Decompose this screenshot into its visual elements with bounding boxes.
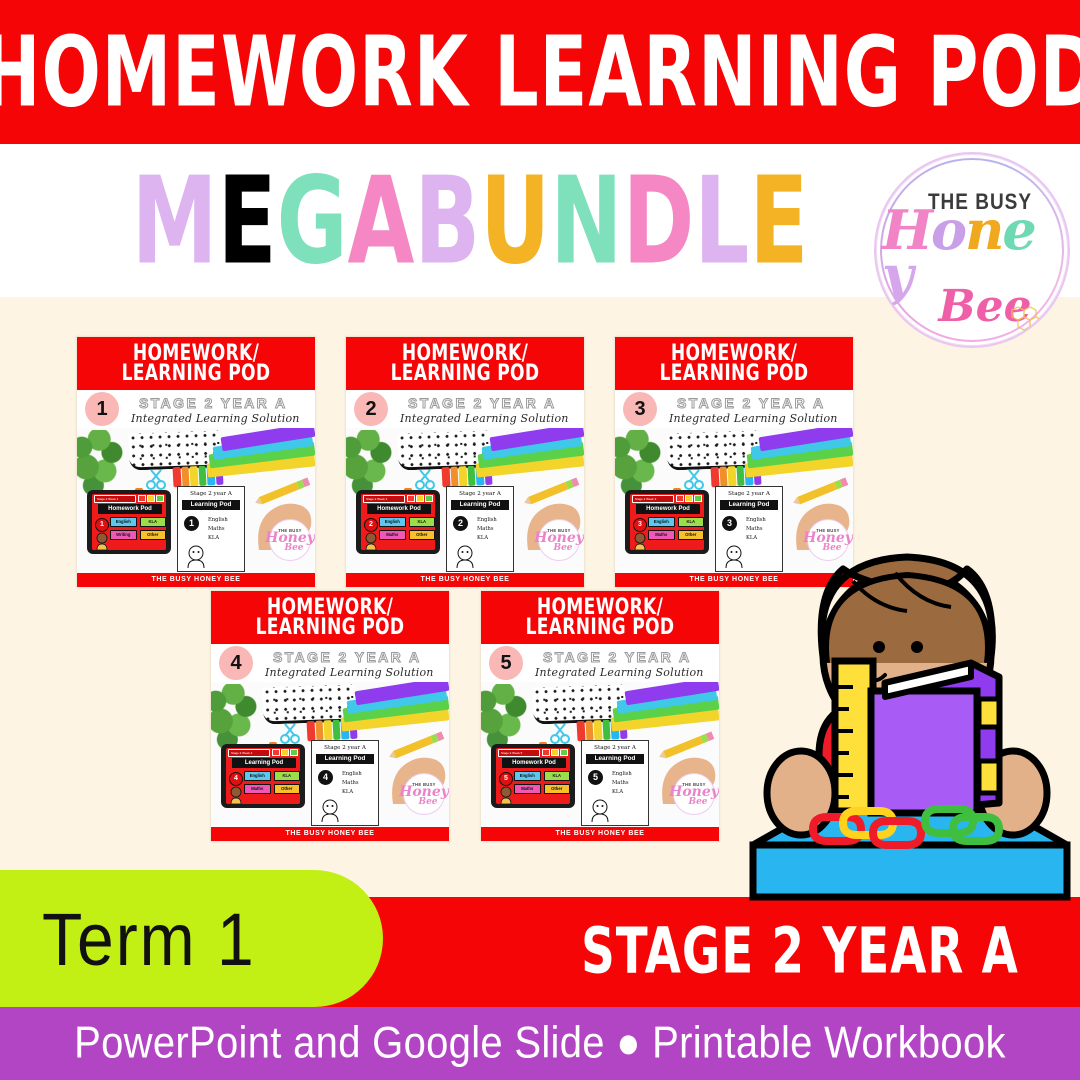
tablet-subject-button[interactable]: English [514, 771, 541, 781]
tablet-subject-button[interactable]: KLA [140, 517, 167, 527]
mega-letter: M [132, 161, 218, 281]
thumbnail-logo: THE BUSYHoneyBee [269, 519, 311, 561]
tablet-screen: Stage 2 Week 4Learning Pod4EnglishKLAMat… [226, 748, 300, 804]
mega-letter: E [218, 161, 277, 281]
tablet-subject-button[interactable]: Other [544, 784, 571, 794]
tablet-number-badge: 5 [499, 772, 513, 786]
worksheet-subject-item: English [208, 516, 228, 525]
worksheet-subject-item: KLA [208, 534, 228, 543]
worksheet-preview: Stage 2 year ALearning Pod2EnglishMathsK… [446, 486, 514, 572]
thumbnail-title-line2: LEARNING POD [256, 616, 405, 639]
product-thumbnail[interactable]: HOMEWORK/LEARNING PODSTAGE 2 YEAR AInteg… [76, 336, 316, 588]
thumbnail-header: HOMEWORK/LEARNING POD [77, 337, 315, 390]
mega-bundle-title: MEGABUNDLE [150, 162, 790, 280]
tablet-subject-button[interactable]: English [379, 517, 406, 527]
tablet-button-row: MathsOther [514, 784, 570, 794]
tablet-mockup: Stage 2 Week 4Learning Pod4EnglishKLAMat… [221, 744, 305, 808]
logo-top-text: THE BUSY [928, 190, 1032, 215]
tablet-number-badge: 4 [229, 772, 243, 786]
tablet-subject-button[interactable]: Other [409, 530, 436, 540]
term-label: Term 1 [42, 896, 256, 981]
logo-letter: y [882, 253, 911, 299]
formats-label: PowerPoint and Google Slide ● Printable … [74, 1018, 1006, 1068]
tablet-button-grid: EnglishKLAMathsOther [379, 517, 435, 543]
tablet-tab-label: Stage 2 Week 1 [95, 496, 135, 502]
thumbnail-solution-label: Integrated Learning Solution [669, 412, 838, 425]
tablet-number-badge: 1 [95, 518, 109, 532]
tablet-button-row: WritingOther [110, 530, 166, 540]
thumbnail-solution-label: Integrated Learning Solution [131, 412, 300, 425]
worksheet-subject-item: KLA [477, 534, 497, 543]
tablet-button-row: EnglishKLA [244, 771, 300, 781]
product-cover: HOMEWORK LEARNING POD MEGABUNDLE THE BUS… [0, 0, 1080, 1080]
thumbnail-photo: Stage 2 Week 1Homework Pod1EnglishKLAWri… [77, 428, 315, 573]
thumbnail-number-badge: 1 [85, 392, 119, 426]
thumbnail-logo: THE BUSYHoneyBee [673, 773, 715, 815]
worksheet-subject-list: EnglishMathsKLA [746, 516, 766, 543]
tablet-button-row: EnglishKLA [110, 517, 166, 527]
formats-banner: PowerPoint and Google Slide ● Printable … [0, 1007, 1080, 1080]
tablet-button-grid: EnglishKLAWritingOther [110, 517, 166, 543]
tablet-screen: Stage 2 Week 5Homework Pod5EnglishKLAMat… [496, 748, 570, 804]
scissors-icon [279, 722, 303, 744]
term-tab: Term 1 [0, 870, 383, 1007]
tablet-subject-button[interactable]: KLA [544, 771, 571, 781]
thumbnail-logo: THE BUSYHoneyBee [538, 519, 580, 561]
avatar [498, 786, 514, 804]
thumbnail-number-badge: 5 [489, 646, 523, 680]
tablet-screen: Stage 2 Week 1Homework Pod1EnglishKLAWri… [92, 494, 166, 550]
mega-letter: A [348, 161, 415, 281]
plant-icon [211, 684, 261, 750]
tablet-number-badge: 3 [633, 518, 647, 532]
worksheet-stage-label: Stage 2 year A [447, 491, 513, 497]
tablet-button-row: MathsOther [244, 784, 300, 794]
tablet-title: Homework Pod [502, 758, 566, 768]
thumbnail-footer: THE BUSY HONEY BEE [211, 827, 449, 841]
worksheet-title: Learning Pod [720, 500, 778, 510]
notebooks-icon [476, 428, 584, 486]
mega-letter: N [550, 161, 622, 281]
student-doodle-icon [453, 544, 477, 568]
thumbnail-logo-bee: Bee [418, 799, 437, 806]
tablet-button-grid: EnglishKLAMathsOther [244, 771, 300, 797]
worksheet-title: Learning Pod [182, 500, 240, 510]
worksheet-subject-item: Maths [342, 779, 362, 788]
worksheet-subject-item: English [342, 770, 362, 779]
thumbnail-stage-label: STAGE 2 YEAR A [139, 395, 287, 411]
notebooks-icon [207, 428, 315, 486]
tablet-tab: Stage 2 Week 2 [363, 495, 405, 503]
mega-letter: G [277, 161, 348, 281]
scissors-icon [683, 468, 707, 490]
tablet-screen: Stage 2 Week 2Homework Pod2EnglishKLAMat… [361, 494, 435, 550]
thumbnail-footer: THE BUSY HONEY BEE [481, 827, 719, 841]
worksheet-stage-label: Stage 2 year A [582, 745, 648, 751]
tablet-indicator-dots [407, 495, 433, 502]
tablet-tab: Stage 2 Week 3 [632, 495, 674, 503]
thumbnail-number-badge: 2 [354, 392, 388, 426]
tablet-mockup: Stage 2 Week 1Homework Pod1EnglishKLAWri… [87, 490, 171, 554]
avatar [94, 532, 110, 550]
worksheet-title: Learning Pod [586, 754, 644, 764]
worksheet-number-badge: 4 [318, 770, 333, 785]
tablet-subject-button[interactable]: Writing [110, 530, 137, 540]
tablet-tab-label: Stage 2 Week 4 [229, 750, 269, 756]
tablet-subject-button[interactable]: English [110, 517, 137, 527]
worksheet-number-badge: 1 [184, 516, 199, 531]
tablet-tab-label: Stage 2 Week 3 [633, 496, 673, 502]
thumbnail-photo: Stage 2 Week 2Homework Pod2EnglishKLAMat… [346, 428, 584, 573]
tablet-tab: Stage 2 Week 5 [498, 749, 540, 757]
thumbnail-footer: THE BUSY HONEY BEE [77, 573, 315, 587]
header-banner: HOMEWORK LEARNING POD [0, 0, 1080, 144]
scissors-icon [549, 722, 573, 744]
tablet-button-grid: EnglishKLAMathsOther [514, 771, 570, 797]
product-thumbnail[interactable]: HOMEWORK/LEARNING PODSTAGE 2 YEAR AInteg… [345, 336, 585, 588]
brand-logo: THE BUSY Honey Bee [874, 152, 1070, 348]
notebooks-icon [341, 682, 449, 740]
student-illustration [735, 545, 1080, 935]
thumbnail-header: HOMEWORK/LEARNING POD [615, 337, 853, 390]
tablet-subject-button[interactable]: English [244, 771, 271, 781]
mega-letter: B [414, 161, 480, 281]
student-doodle-icon [184, 544, 208, 568]
mega-letter: D [623, 161, 695, 281]
worksheet-number-badge: 5 [588, 770, 603, 785]
tablet-tab-label: Stage 2 Week 5 [499, 750, 539, 756]
worksheet-stage-label: Stage 2 year A [178, 491, 244, 497]
worksheet-title: Learning Pod [451, 500, 509, 510]
tablet-mockup: Stage 2 Week 2Homework Pod2EnglishKLAMat… [356, 490, 440, 554]
worksheet-stage-label: Stage 2 year A [312, 745, 378, 751]
thumbnail-header: HOMEWORK/LEARNING POD [211, 591, 449, 644]
mega-letter: L [694, 161, 749, 281]
scissors-icon [414, 468, 438, 490]
tablet-subject-button[interactable]: Other [274, 784, 301, 794]
tablet-title: Homework Pod [98, 504, 162, 514]
worksheet-subject-item: Maths [746, 525, 766, 534]
page-title: HOMEWORK LEARNING POD [0, 23, 1080, 120]
plant-icon [615, 430, 665, 496]
product-thumbnail[interactable]: HOMEWORK/LEARNING PODSTAGE 2 YEAR AInteg… [480, 590, 720, 842]
worksheet-subject-item: KLA [612, 788, 632, 797]
worksheet-subject-list: EnglishMathsKLA [612, 770, 632, 797]
tablet-indicator-dots [542, 749, 568, 756]
mega-letter: E [749, 161, 808, 281]
worksheet-subject-item: Maths [612, 779, 632, 788]
worksheet-preview: Stage 2 year ALearning Pod5EnglishMathsK… [581, 740, 649, 826]
plant-icon [346, 430, 396, 496]
tablet-indicator-dots [676, 495, 702, 502]
worksheet-subject-item: English [612, 770, 632, 779]
tablet-title: Learning Pod [232, 758, 296, 768]
product-thumbnail[interactable]: HOMEWORK/LEARNING PODSTAGE 2 YEAR AInteg… [210, 590, 450, 842]
worksheet-number-badge: 2 [453, 516, 468, 531]
tablet-tab: Stage 2 Week 4 [228, 749, 270, 757]
tablet-tab-label: Stage 2 Week 2 [364, 496, 404, 502]
student-doodle-icon [588, 798, 612, 822]
notebooks-icon [745, 428, 853, 486]
tablet-mockup: Stage 2 Week 3Homework Pod3EnglishKLAMat… [625, 490, 709, 554]
thumbnail-stage-label: STAGE 2 YEAR A [677, 395, 825, 411]
thumbnail-photo: Stage 2 Week 4Learning Pod4EnglishKLAMat… [211, 682, 449, 827]
thumbnail-number-badge: 3 [623, 392, 657, 426]
tablet-subject-button[interactable]: KLA [274, 771, 301, 781]
tablet-subject-button[interactable]: Maths [648, 530, 675, 540]
thumbnail-stage-label: STAGE 2 YEAR A [543, 649, 691, 665]
worksheet-subject-item: KLA [342, 788, 362, 797]
worksheet-subject-item: English [746, 516, 766, 525]
thumbnail-solution-label: Integrated Learning Solution [535, 666, 704, 679]
worksheet-subject-list: EnglishMathsKLA [477, 516, 497, 543]
tablet-button-row: EnglishKLA [648, 517, 704, 527]
tablet-mockup: Stage 2 Week 5Homework Pod5EnglishKLAMat… [491, 744, 575, 808]
tablet-number-badge: 2 [364, 518, 378, 532]
plant-icon [481, 684, 531, 750]
worksheet-subject-item: Maths [477, 525, 497, 534]
thumbnail-title-line2: LEARNING POD [122, 362, 271, 385]
thumbnail-title-line2: LEARNING POD [391, 362, 540, 385]
thumbnail-stage-label: STAGE 2 YEAR A [273, 649, 421, 665]
thumbnail-stage-label: STAGE 2 YEAR A [408, 395, 556, 411]
worksheet-number-badge: 3 [722, 516, 737, 531]
worksheet-subject-item: English [477, 516, 497, 525]
thumbnail-number-badge: 4 [219, 646, 253, 680]
tablet-subject-button[interactable]: KLA [678, 517, 705, 527]
tablet-subject-button[interactable]: English [648, 517, 675, 527]
worksheet-preview: Stage 2 year ALearning Pod1EnglishMathsK… [177, 486, 245, 572]
tablet-screen: Stage 2 Week 3Homework Pod3EnglishKLAMat… [630, 494, 704, 550]
tablet-button-row: MathsOther [379, 530, 435, 540]
tablet-indicator-dots [272, 749, 298, 756]
worksheet-stage-label: Stage 2 year A [716, 491, 782, 497]
tablet-button-row: EnglishKLA [379, 517, 435, 527]
tablet-subject-button[interactable]: KLA [409, 517, 436, 527]
thumbnail-logo-bee: Bee [284, 545, 303, 552]
tablet-title: Homework Pod [636, 504, 700, 514]
tablet-subject-button[interactable]: Other [678, 530, 705, 540]
avatar [363, 532, 379, 550]
tablet-subject-button[interactable]: Maths [514, 784, 541, 794]
tablet-subject-button[interactable]: Other [140, 530, 167, 540]
worksheet-subject-item: Maths [208, 525, 228, 534]
thumbnail-logo: THE BUSYHoneyBee [403, 773, 445, 815]
mega-letter: U [480, 161, 550, 281]
thumbnail-solution-label: Integrated Learning Solution [400, 412, 569, 425]
thumbnail-header: HOMEWORK/LEARNING POD [346, 337, 584, 390]
tablet-button-grid: EnglishKLAMathsOther [648, 517, 704, 543]
plant-icon [77, 430, 127, 496]
tablet-subject-button[interactable]: Maths [379, 530, 406, 540]
student-doodle-icon [318, 798, 342, 822]
tablet-title: Homework Pod [367, 504, 431, 514]
notebooks-icon [611, 682, 719, 740]
avatar [228, 786, 244, 804]
thumbnail-logo-bee: Bee [688, 799, 707, 806]
tablet-subject-button[interactable]: Maths [244, 784, 271, 794]
tablet-indicator-dots [138, 495, 164, 502]
worksheet-title: Learning Pod [316, 754, 374, 764]
thumbnail-photo: Stage 2 Week 5Homework Pod5EnglishKLAMat… [481, 682, 719, 827]
tablet-button-row: MathsOther [648, 530, 704, 540]
worksheet-preview: Stage 2 year ALearning Pod4EnglishMathsK… [311, 740, 379, 826]
thumbnail-header: HOMEWORK/LEARNING POD [481, 591, 719, 644]
thumbnail-footer: THE BUSY HONEY BEE [346, 573, 584, 587]
avatar [632, 532, 648, 550]
thumbnail-solution-label: Integrated Learning Solution [265, 666, 434, 679]
honeycomb-icon [1004, 306, 1050, 336]
thumbnail-logo-bee: Bee [553, 545, 572, 552]
thumbnail-title-line2: LEARNING POD [526, 616, 675, 639]
worksheet-subject-list: EnglishMathsKLA [342, 770, 362, 797]
thumbnail-title-line2: LEARNING POD [660, 362, 809, 385]
worksheet-subject-list: EnglishMathsKLA [208, 516, 228, 543]
tablet-tab: Stage 2 Week 1 [94, 495, 136, 503]
worksheet-subject-item: KLA [746, 534, 766, 543]
tablet-button-row: EnglishKLA [514, 771, 570, 781]
scissors-icon [145, 468, 169, 490]
